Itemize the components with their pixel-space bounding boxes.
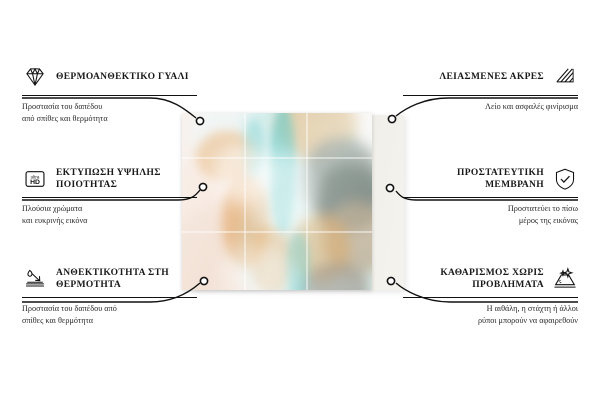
product-front-panel bbox=[182, 113, 372, 290]
feature-easy-cleaning: ΚΑΘΑΡΙΣΜΟΣ ΧΩΡΙΣ ΠΡΟΒΛΗΜΑΤΑ Η αιθάλη, η … bbox=[403, 266, 578, 326]
feature-description: Η αιθάλη, η στάχτη ή άλλοιρύποι μπορούν … bbox=[403, 303, 578, 326]
diamond-icon bbox=[22, 64, 48, 90]
feature-heat-durability: ΑΝΘΕΚΤΙΚΟΤΗΤΑ ΣΤΗ ΘΕΡΜΟΤΗΤΑ Προστασία το… bbox=[22, 266, 197, 326]
feature-description: Πλούσια χρώματακαι ευκρινής εικόνα bbox=[22, 203, 197, 226]
feature-title: ΚΑΘΑΡΙΣΜΟΣ ΧΩΡΙΣ ΠΡΟΒΛΗΜΑΤΑ bbox=[403, 267, 544, 292]
feature-polished-edges: ΛΕΙΑΣΜΕΝΕΣ ΑΚΡΕΣ Λείο και ασφαλές φινίρι… bbox=[403, 64, 578, 113]
feature-description: Λείο και ασφαλές φινίρισμα bbox=[403, 101, 578, 113]
abstract-ink-artwork bbox=[182, 113, 372, 290]
shield-check-icon bbox=[552, 166, 578, 192]
easy-cleaning-icon bbox=[552, 266, 578, 292]
product-image bbox=[182, 113, 394, 290]
heat-resistance-icon bbox=[22, 266, 48, 292]
feature-description: Προστασία του δαπέδουαπό σπίθες και θερμ… bbox=[22, 101, 197, 124]
feature-protective-film: ΠΡΟΣΤΑΤΕΥΤΙΚΗ ΜΕΜΒΡΑΝΗ Προστατεύει το πί… bbox=[403, 166, 578, 226]
feature-title: ΛΕΙΑΣΜΕΝΕΣ ΑΚΡΕΣ bbox=[439, 71, 544, 84]
divider bbox=[22, 197, 197, 198]
feature-heat-resistant-glass: ΘΕΡΜΟΑΝΘΕΚΤΙΚΟ ΓΥΑΛΙ Προστασία του δαπέδ… bbox=[22, 64, 197, 124]
feature-title: ΘΕΡΜΟΑΝΘΕΚΤΙΚΟ ΓΥΑΛΙ bbox=[56, 71, 189, 84]
svg-text:HD: HD bbox=[30, 179, 40, 186]
divider bbox=[22, 95, 197, 96]
feature-title: ΠΡΟΣΤΑΤΕΥΤΙΚΗ ΜΕΜΒΡΑΝΗ bbox=[403, 167, 544, 192]
infographic-canvas: ΘΕΡΜΟΑΝΘΕΚΤΙΚΟ ΓΥΑΛΙ Προστασία του δαπέδ… bbox=[0, 0, 600, 400]
feature-description: Προστασία του δαπέδου απόσπίθες και θερμ… bbox=[22, 303, 197, 326]
polished-edges-icon bbox=[552, 64, 578, 90]
feature-title: ΑΝΘΕΚΤΙΚΟΤΗΤΑ ΣΤΗ ΘΕΡΜΟΤΗΤΑ bbox=[56, 267, 197, 292]
ultra-hd-icon: ultra HD bbox=[22, 166, 48, 192]
divider bbox=[403, 95, 578, 96]
feature-description: Προστατεύει το πίσωμέρος της εικόνας bbox=[403, 203, 578, 226]
divider bbox=[403, 197, 578, 198]
divider bbox=[22, 297, 197, 298]
feature-title: ΕΚΤΥΠΩΣΗ ΥΨΗΛΗΣ ΠΟΙΟΤΗΤΑΣ bbox=[56, 167, 197, 192]
feature-high-quality-printing: ultra HD ΕΚΤΥΠΩΣΗ ΥΨΗΛΗΣ ΠΟΙΟΤΗΤΑΣ Πλούσ… bbox=[22, 166, 197, 226]
divider bbox=[403, 297, 578, 298]
